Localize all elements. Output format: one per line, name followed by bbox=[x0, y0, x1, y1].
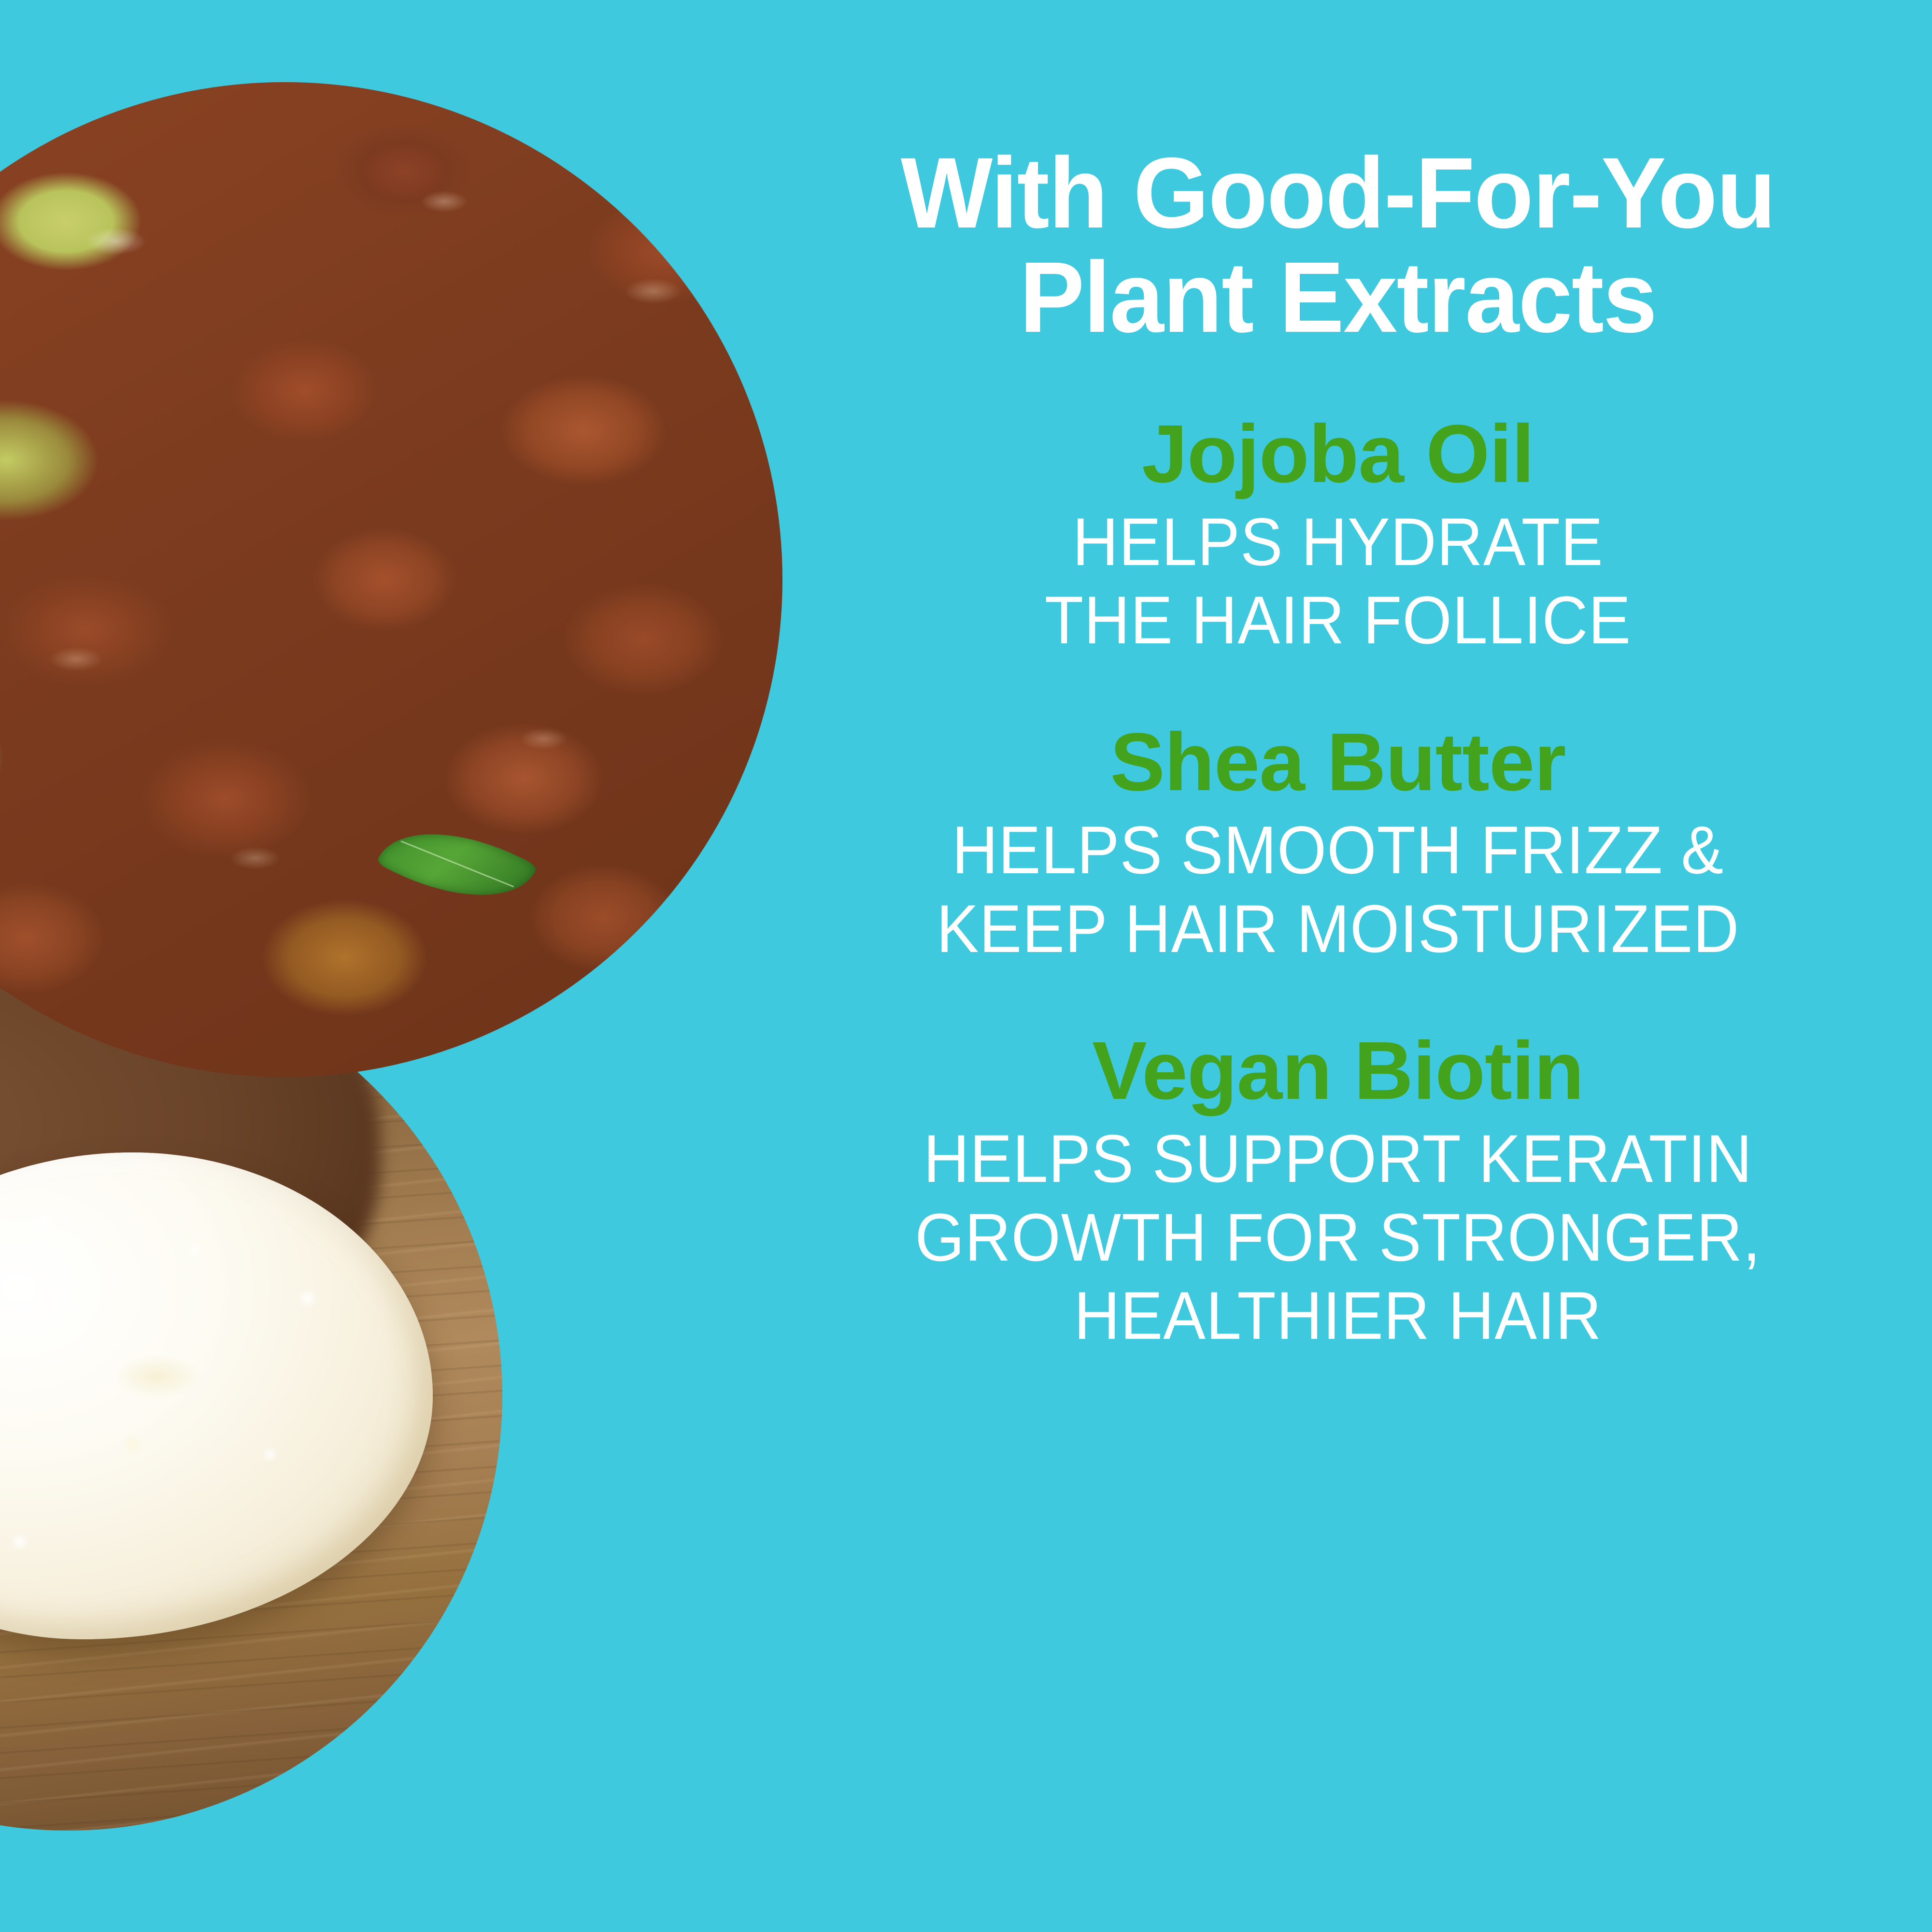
benefit-line: HELPS HYDRATE bbox=[816, 503, 1860, 581]
benefit-line: THE HAIR FOLLICE bbox=[816, 581, 1860, 659]
benefit-line: KEEP HAIR MOISTURIZED bbox=[816, 890, 1860, 968]
ingredient-benefit-shea-butter: HELPS SMOOTH FRIZZ & KEEP HAIR MOISTURIZ… bbox=[782, 811, 1893, 968]
ingredient-name-shea-butter: Shea Butter bbox=[782, 721, 1893, 803]
nut-highlight-overlay bbox=[0, 82, 782, 1077]
benefit-line: GROWTH FOR STRONGER, bbox=[816, 1198, 1860, 1277]
ingredient-list: Jojoba Oil HELPS HYDRATE THE HAIR FOLLIC… bbox=[782, 413, 1893, 1355]
page-title: With Good-For-You Plant Extracts bbox=[799, 0, 1877, 350]
headline-line-1: With Good-For-You bbox=[799, 141, 1877, 245]
benefit-line: HELPS SMOOTH FRIZZ & bbox=[816, 811, 1860, 889]
ingredient-benefit-jojoba-oil: HELPS HYDRATE THE HAIR FOLLICE bbox=[782, 503, 1893, 660]
ingredient-item-shea-butter: Shea Butter HELPS SMOOTH FRIZZ & KEEP HA… bbox=[782, 721, 1893, 968]
product-ingredient-infographic: With Good-For-You Plant Extracts Jojoba … bbox=[0, 0, 1932, 1932]
benefit-line: HEALTHIER HAIR bbox=[816, 1277, 1860, 1355]
benefit-line: HELPS SUPPORT KERATIN bbox=[816, 1120, 1860, 1198]
shea-butter-circle-image bbox=[0, 961, 502, 1831]
ingredient-name-vegan-biotin: Vegan Biotin bbox=[782, 1030, 1893, 1112]
headline-line-2: Plant Extracts bbox=[799, 245, 1877, 350]
ingredient-benefit-vegan-biotin: HELPS SUPPORT KERATIN GROWTH FOR STRONGE… bbox=[782, 1120, 1893, 1355]
ingredient-name-jojoba-oil: Jojoba Oil bbox=[782, 413, 1893, 495]
ingredient-item-jojoba-oil: Jojoba Oil HELPS HYDRATE THE HAIR FOLLIC… bbox=[782, 413, 1893, 660]
content-column: With Good-For-You Plant Extracts Jojoba … bbox=[782, 0, 1893, 1932]
ingredient-item-vegan-biotin: Vegan Biotin HELPS SUPPORT KERATIN GROWT… bbox=[782, 1030, 1893, 1355]
jojoba-nuts-circle-image bbox=[0, 82, 782, 1077]
